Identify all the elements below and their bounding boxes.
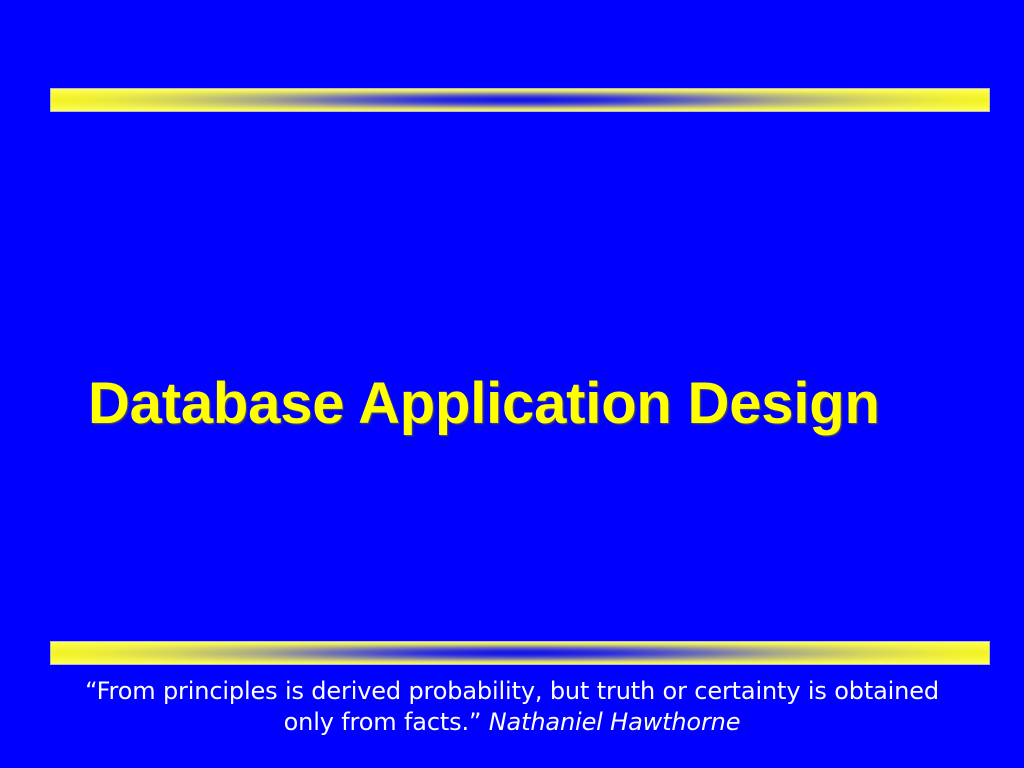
presentation-slide: Database Application Design “From princi… [0, 0, 1024, 768]
quote-spacer [481, 708, 488, 736]
divider-blue-lens [51, 93, 989, 108]
top-divider-bar [50, 88, 990, 112]
slide-title: Database Application Design [88, 374, 958, 435]
divider-blue-lens [51, 646, 989, 661]
slide-quote: “From principles is derived probability,… [62, 676, 962, 737]
bottom-divider-bar [50, 641, 990, 665]
quote-author: Nathaniel Hawthorne [489, 708, 741, 736]
